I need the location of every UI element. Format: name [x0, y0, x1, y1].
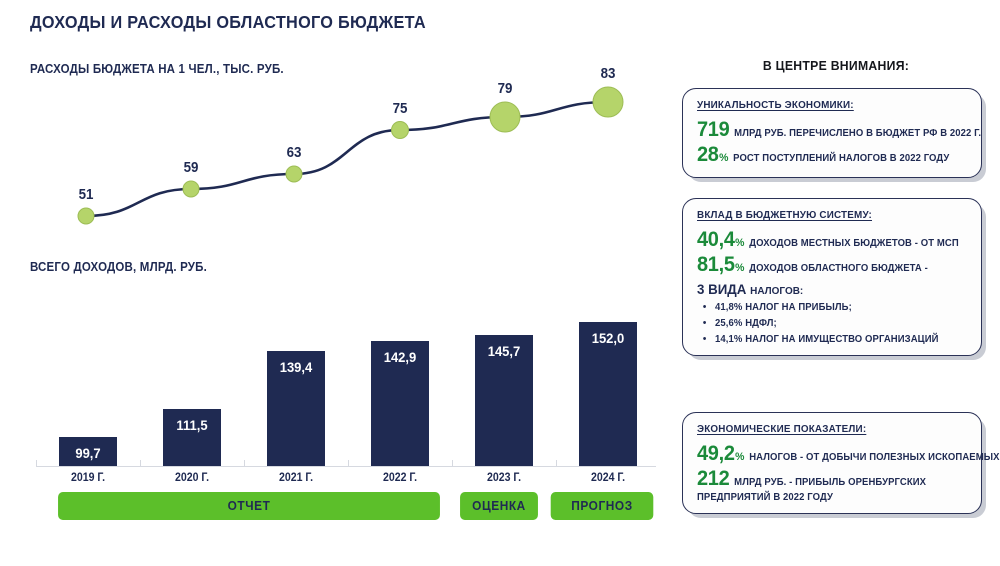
legend-chip-1[interactable]: ОЦЕНКА [460, 492, 538, 520]
focus-panel-0: УНИКАЛЬНОСТЬ ЭКОНОМИКИ:719МЛРД РУБ. ПЕРЕ… [682, 88, 982, 178]
bullet-text: 41,8% НАЛОГ НА ПРИБЫЛЬ; [715, 302, 852, 313]
stat-number: 81,5 [697, 253, 735, 277]
line-marker[interactable] [78, 208, 94, 224]
line-point-label: 83 [601, 66, 616, 82]
stat-text: МЛРД РУБ. - ПРИБЫЛЬ ОРЕНБУРГСКИХ [734, 477, 926, 488]
bar-value-label: 142,9 [384, 349, 417, 365]
stat-text: РОСТ ПОСТУПЛЕНИЙ НАЛОГОВ В 2022 ГОДУ [733, 153, 949, 164]
stat-unit: % [735, 451, 744, 463]
bullet-dot-icon: • [703, 301, 715, 313]
line-marker[interactable] [183, 181, 199, 197]
line-marker[interactable] [490, 102, 520, 132]
bar-x-label: 2021 Г. [279, 472, 313, 484]
stat-line: 719МЛРД РУБ. ПЕРЕЧИСЛЕНО В БЮДЖЕТ РФ В 2… [697, 118, 955, 142]
bar-axis-tick [556, 460, 557, 467]
bullet-text: 14,1% НАЛОГ НА ИМУЩЕСТВО ОРГАНИЗАЦИЙ [715, 334, 939, 345]
bullet-item: •25,6% НДФЛ; [697, 317, 955, 329]
panel-heading: ЭКОНОМИЧЕСКИЕ ПОКАЗАТЕЛИ: [697, 423, 953, 435]
focus-header: В ЦЕНТРЕ ВНИМАНИЯ: [682, 58, 990, 73]
line-point-label: 75 [393, 101, 408, 117]
period-legend: ОТЧЕТОЦЕНКАПРОГНОЗ [0, 492, 672, 522]
stat-unit: % [719, 152, 728, 164]
bar-axis-tick [140, 460, 141, 467]
bar-x-label: 2019 Г. [71, 472, 105, 484]
line-marker[interactable] [392, 122, 409, 139]
legend-chip-2[interactable]: ПРОГНОЗ [551, 492, 654, 520]
bar-axis-tick [452, 460, 453, 467]
stat-line: 81,5%ДОХОДОВ ОБЛАСТНОГО БЮДЖЕТА - [697, 253, 955, 277]
sub-heading-count: 3 ВИДА [697, 281, 746, 297]
bar-chart-axis [36, 466, 656, 467]
stat-number: 212 [697, 467, 729, 491]
charts-column: ДОХОДЫ И РАСХОДЫ ОБЛАСТНОГО БЮДЖЕТА РАСХ… [0, 0, 672, 566]
bar-x-label: 2020 Г. [175, 472, 209, 484]
bar-x-label: 2024 Г. [591, 472, 625, 484]
bar-value-label: 152,0 [592, 330, 625, 346]
bullet-dot-icon: • [703, 333, 715, 345]
line-point-label: 79 [498, 81, 513, 97]
stat-number: 40,4 [697, 228, 735, 252]
line-chart: 515963757983 [0, 55, 672, 245]
bar-x-label: 2023 Г. [487, 472, 521, 484]
page-title: ДОХОДЫ И РАСХОДЫ ОБЛАСТНОГО БЮДЖЕТА [30, 12, 426, 33]
line-point-label: 51 [79, 187, 94, 203]
line-series-path [86, 102, 608, 216]
bullet-dot-icon: • [703, 317, 715, 329]
bar-x-label: 2022 Г. [383, 472, 417, 484]
bar-chart-title: ВСЕГО ДОХОДОВ, МЛРД. РУБ. [30, 260, 207, 274]
line-marker[interactable] [286, 166, 302, 182]
bar-value-label: 145,7 [488, 343, 521, 359]
line-chart-svg [0, 55, 672, 245]
bar-axis-tick [36, 460, 37, 467]
bar-value-label: 139,4 [280, 359, 313, 375]
focus-panel-1: ВКЛАД В БЮДЖЕТНУЮ СИСТЕМУ:40,4%ДОХОДОВ М… [682, 198, 982, 356]
bar-axis-tick [244, 460, 245, 467]
legend-chip-0[interactable]: ОТЧЕТ [58, 492, 440, 520]
line-point-label: 59 [184, 160, 199, 176]
bullet-item: •14,1% НАЛОГ НА ИМУЩЕСТВО ОРГАНИЗАЦИЙ [697, 333, 955, 345]
bar-value-label: 99,7 [75, 445, 100, 461]
bar-value-label: 111,5 [176, 417, 207, 433]
sub-heading-label: НАЛОГОВ: [750, 285, 803, 297]
stat-text: ДОХОДОВ МЕСТНЫХ БЮДЖЕТОВ - ОТ МСП [749, 238, 959, 249]
stat-line: 212МЛРД РУБ. - ПРИБЫЛЬ ОРЕНБУРГСКИХ [697, 467, 955, 491]
sub-heading: 3 ВИДАНАЛОГОВ: [697, 281, 955, 297]
bullet-text: 25,6% НДФЛ; [715, 318, 777, 329]
panel-heading: УНИКАЛЬНОСТЬ ЭКОНОМИКИ: [697, 99, 953, 111]
bar-axis-tick [348, 460, 349, 467]
line-point-label: 63 [287, 145, 302, 161]
bar-chart: 99,72019 Г.111,52020 Г.139,42021 Г.142,9… [0, 290, 672, 490]
stat-number: 28 [697, 143, 719, 167]
focus-column: В ЦЕНТРЕ ВНИМАНИЯ: УНИКАЛЬНОСТЬ ЭКОНОМИК… [672, 0, 1000, 566]
stat-number: 719 [697, 118, 729, 142]
bullet-item: •41,8% НАЛОГ НА ПРИБЫЛЬ; [697, 301, 955, 313]
stat-unit: % [735, 262, 744, 274]
stat-number: 49,2 [697, 442, 735, 466]
stat-text: МЛРД РУБ. ПЕРЕЧИСЛЕНО В БЮДЖЕТ РФ В 2022… [734, 128, 981, 139]
stat-line: 49,2%НАЛОГОВ - ОТ ДОБЫЧИ ПОЛЕЗНЫХ ИСКОПА… [697, 442, 955, 466]
panel-heading: ВКЛАД В БЮДЖЕТНУЮ СИСТЕМУ: [697, 209, 953, 221]
focus-panel-2: ЭКОНОМИЧЕСКИЕ ПОКАЗАТЕЛИ:49,2%НАЛОГОВ - … [682, 412, 982, 514]
stat-text: ДОХОДОВ ОБЛАСТНОГО БЮДЖЕТА - [749, 263, 928, 274]
stat-unit: % [735, 237, 744, 249]
stat-text: НАЛОГОВ - ОТ ДОБЫЧИ ПОЛЕЗНЫХ ИСКОПАЕМЫХ [749, 452, 999, 463]
trailing-line: ПРЕДПРИЯТИЙ В 2022 ГОДУ [697, 492, 955, 503]
line-marker[interactable] [593, 87, 623, 117]
infographic-root: ДОХОДЫ И РАСХОДЫ ОБЛАСТНОГО БЮДЖЕТА РАСХ… [0, 0, 1000, 566]
stat-line: 28%РОСТ ПОСТУПЛЕНИЙ НАЛОГОВ В 2022 ГОДУ [697, 143, 955, 167]
stat-line: 40,4%ДОХОДОВ МЕСТНЫХ БЮДЖЕТОВ - ОТ МСП [697, 228, 955, 252]
